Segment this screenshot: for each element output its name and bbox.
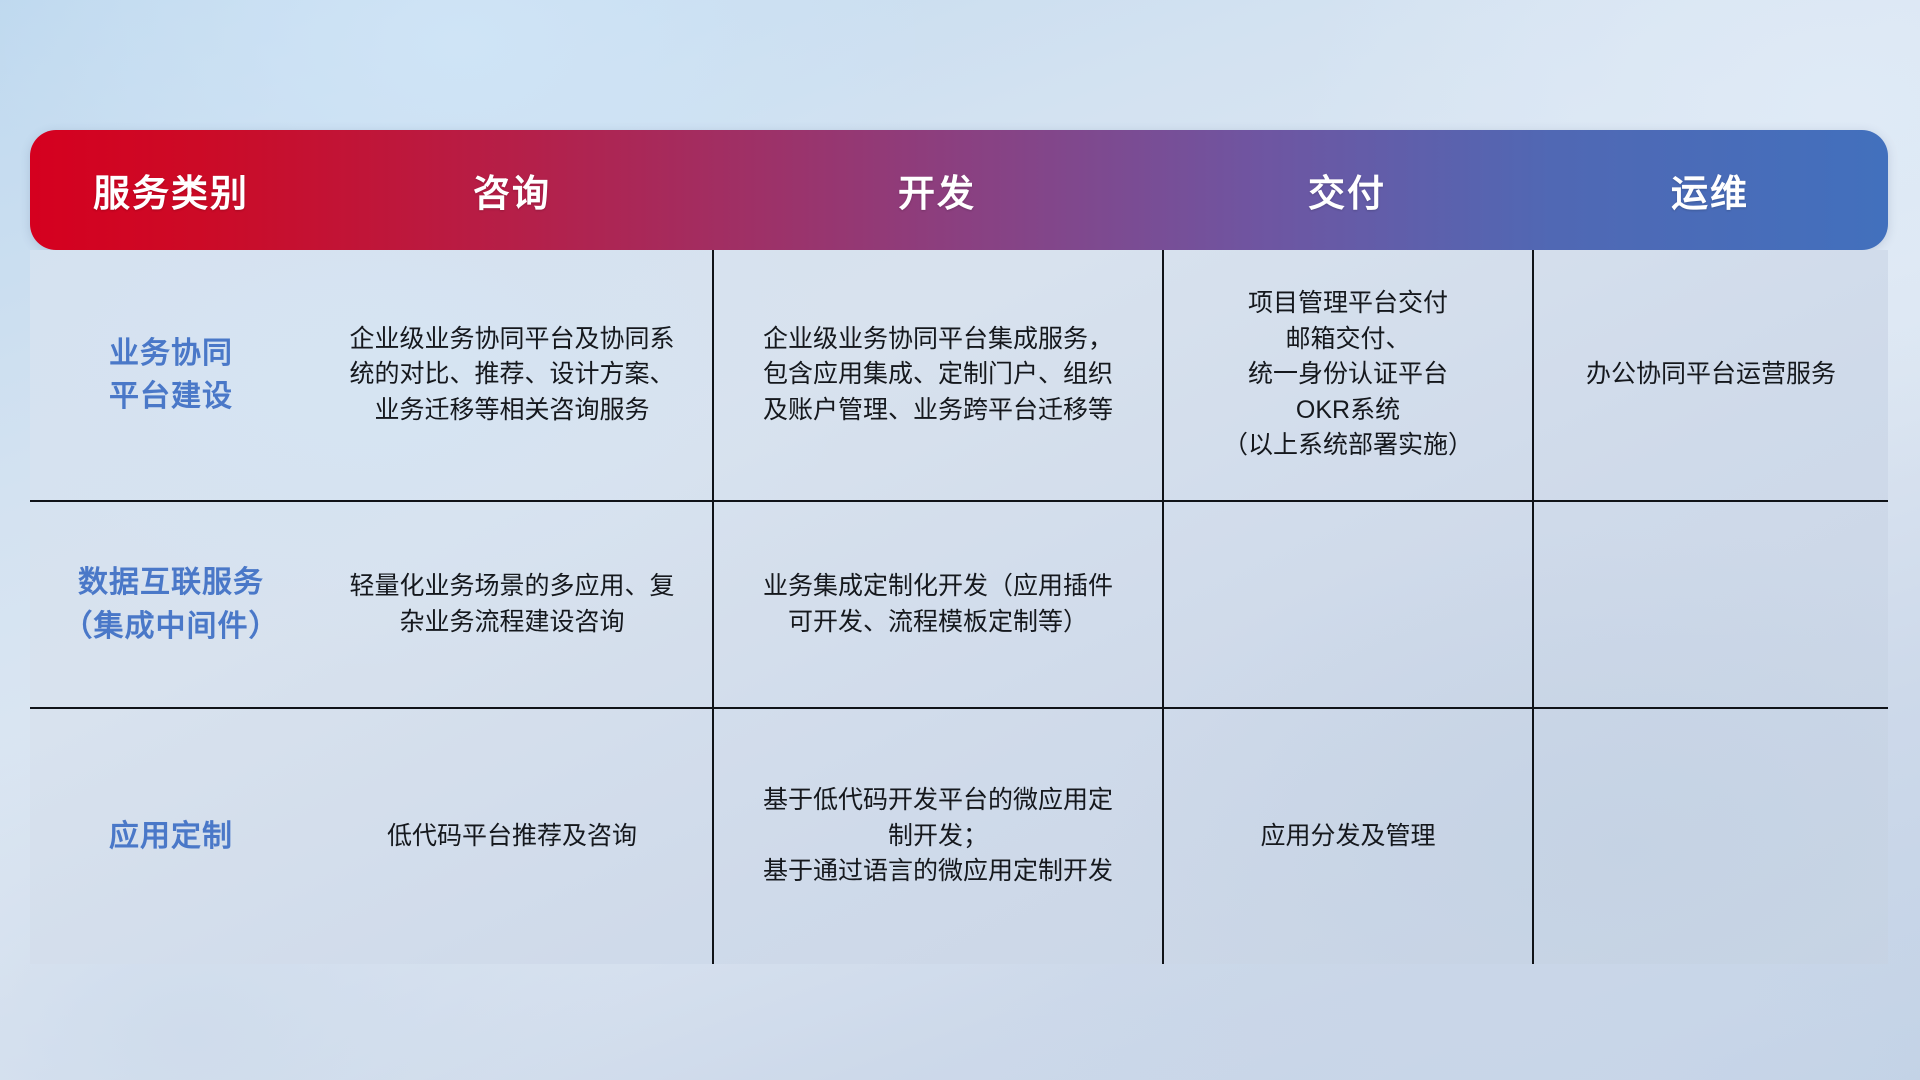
column-header-development: 开发 [712, 130, 1162, 250]
table-row: 业务协同 平台建设 企业级业务协同平台及协同系 统的对比、推荐、设计方案、 业务… [30, 250, 1888, 500]
table-row: 数据互联服务 （集成中间件） 轻量化业务场景的多应用、复 杂业务流程建设咨询 业… [30, 500, 1888, 707]
row-category-label: 数据互联服务 （集成中间件） [30, 502, 312, 707]
row-category-label: 应用定制 [30, 709, 312, 964]
table-body: 业务协同 平台建设 企业级业务协同平台及协同系 统的对比、推荐、设计方案、 业务… [30, 250, 1888, 964]
row-category-label: 业务协同 平台建设 [30, 250, 312, 500]
column-header-operations: 运维 [1532, 130, 1888, 250]
column-header-consulting: 咨询 [312, 130, 712, 250]
cell-consulting: 轻量化业务场景的多应用、复 杂业务流程建设咨询 [312, 502, 712, 707]
cell-delivery: 应用分发及管理 [1162, 709, 1532, 964]
cell-operations [1532, 502, 1888, 707]
cell-consulting: 低代码平台推荐及咨询 [312, 709, 712, 964]
cell-development: 企业级业务协同平台集成服务， 包含应用集成、定制门户、组织 及账户管理、业务跨平… [712, 250, 1162, 500]
cell-development: 业务集成定制化开发（应用插件 可开发、流程模板定制等） [712, 502, 1162, 707]
slide-canvas: 服务类别 咨询 开发 交付 运维 业务协同 平台建设 企业级业务协同平台及协同系… [0, 0, 1920, 1080]
cell-operations: 办公协同平台运营服务 [1532, 250, 1888, 500]
column-header-category: 服务类别 [30, 130, 312, 250]
cell-delivery [1162, 502, 1532, 707]
table-header-row: 服务类别 咨询 开发 交付 运维 [30, 130, 1888, 250]
cell-consulting: 企业级业务协同平台及协同系 统的对比、推荐、设计方案、 业务迁移等相关咨询服务 [312, 250, 712, 500]
service-matrix-table: 服务类别 咨询 开发 交付 运维 业务协同 平台建设 企业级业务协同平台及协同系… [30, 130, 1888, 964]
cell-development: 基于低代码开发平台的微应用定 制开发； 基于通过语言的微应用定制开发 [712, 709, 1162, 964]
table-row: 应用定制 低代码平台推荐及咨询 基于低代码开发平台的微应用定 制开发； 基于通过… [30, 707, 1888, 964]
cell-delivery: 项目管理平台交付 邮箱交付、 统一身份认证平台 OKR系统 （以上系统部署实施） [1162, 250, 1532, 500]
cell-operations [1532, 709, 1888, 964]
column-header-delivery: 交付 [1162, 130, 1532, 250]
